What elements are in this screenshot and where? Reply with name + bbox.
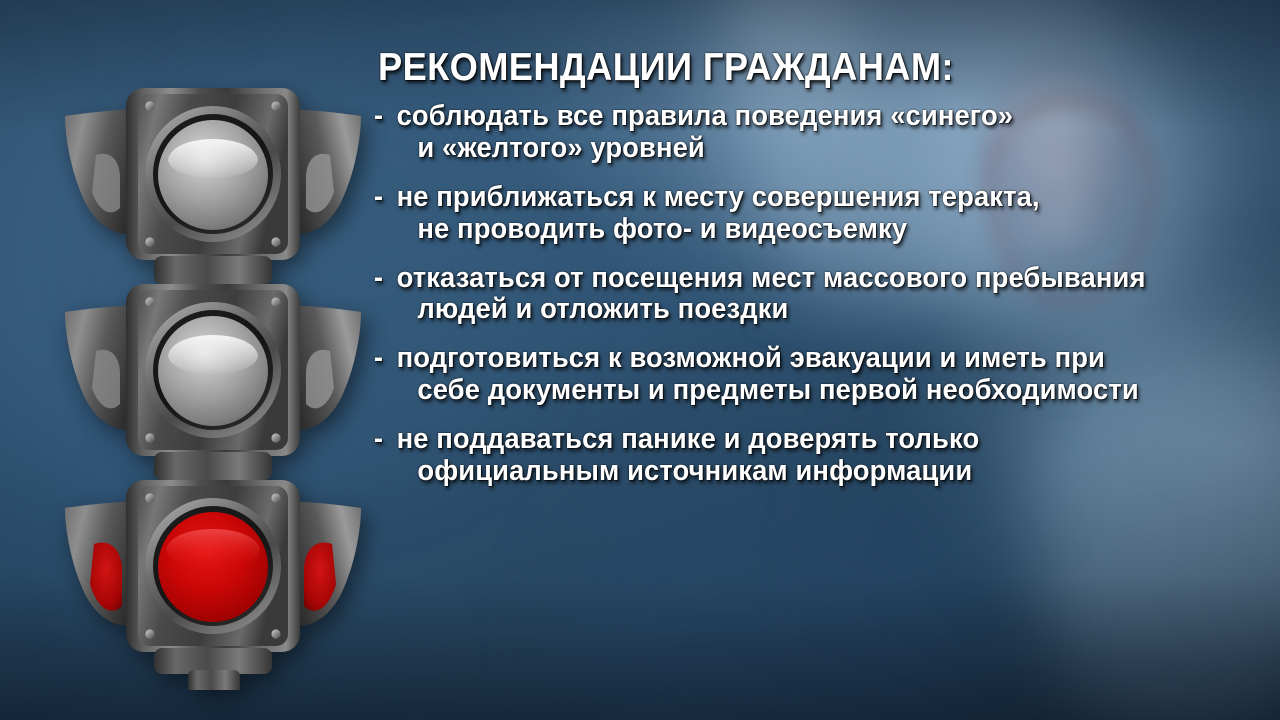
bullet-dash: - xyxy=(374,343,383,375)
lamp-middle-off xyxy=(65,284,361,480)
bullet-dash: - xyxy=(374,424,383,456)
bullet-dash: - xyxy=(374,182,383,214)
pole-stub xyxy=(188,670,240,690)
traffic-light-graphic xyxy=(58,80,368,690)
list-item: - не приближаться к месту совершения тер… xyxy=(372,182,1204,246)
list-item-line: не приближаться к месту совершения терак… xyxy=(397,182,1204,214)
list-item-line: не поддаваться панике и доверять только xyxy=(397,424,1204,456)
list-item: - подготовиться к возможной эвакуации и … xyxy=(372,343,1204,407)
list-item: - не поддаваться панике и доверять тольк… xyxy=(372,424,1204,488)
bullet-dash: - xyxy=(374,263,383,295)
list-item-line: отказаться от посещения мест массового п… xyxy=(397,263,1204,295)
list-item-line: людей и отложить поездки xyxy=(397,294,1204,326)
traffic-light-icon xyxy=(58,80,368,690)
list-item-line: подготовиться к возможной эвакуации и им… xyxy=(397,343,1204,375)
slide-canvas: РЕКОМЕНДАЦИИ ГРАЖДАНАМ: - соблюдать все … xyxy=(0,0,1280,720)
bullet-dash: - xyxy=(374,101,383,133)
list-item-line: и «желтого» уровней xyxy=(397,133,1204,165)
list-item-line: официальным источникам информации xyxy=(397,456,1204,488)
list-item: - отказаться от посещения мест массового… xyxy=(372,263,1204,327)
lamp-bottom-red-on xyxy=(65,480,361,690)
page-title: РЕКОМЕНДАЦИИ ГРАЖДАНАМ: xyxy=(378,48,1191,87)
lamp-top-off xyxy=(65,88,361,284)
list-item: - соблюдать все правила поведения «синег… xyxy=(372,101,1204,165)
list-item-line: не проводить фото- и видеосъемку xyxy=(397,214,1204,246)
list-item-line: соблюдать все правила поведения «синего» xyxy=(397,101,1204,133)
recommendations-panel: РЕКОМЕНДАЦИИ ГРАЖДАНАМ: - соблюдать все … xyxy=(372,48,1252,505)
list-item-line: себе документы и предметы первой необход… xyxy=(397,375,1204,407)
recommendation-list: - соблюдать все правила поведения «синег… xyxy=(372,101,1252,488)
